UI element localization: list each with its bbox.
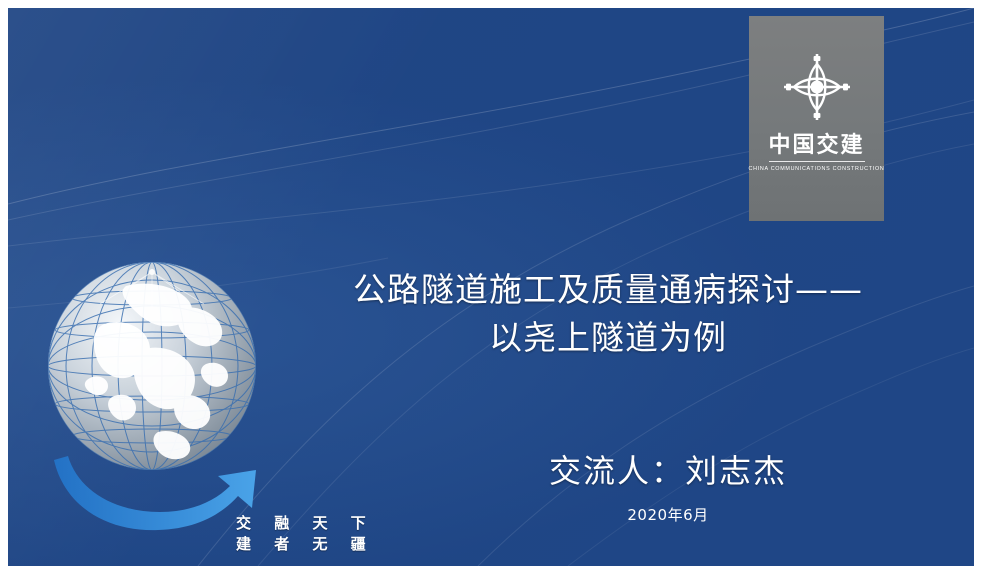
slogan-line-1: 交 融 天 下 <box>236 513 375 534</box>
company-slogan: 交 融 天 下 建 者 无 疆 <box>236 513 375 555</box>
company-logo-panel: 中国交建 CHINA COMMUNICATIONS CONSTRUCTION <box>749 16 884 221</box>
presentation-date: 2020年6月 <box>428 504 908 525</box>
title-line-1: 公路隧道施工及质量通病探讨—— <box>353 270 863 309</box>
globe-graphic <box>30 246 300 546</box>
title-line-2: 以尧上隧道为例 <box>308 314 908 362</box>
slogan-line-2: 建 者 无 疆 <box>236 534 375 555</box>
logo-company-name-cn: 中国交建 <box>768 134 864 158</box>
page-title: 公路隧道施工及质量通病探讨—— 以尧上隧道为例 <box>308 266 908 362</box>
logo-divider <box>769 161 865 162</box>
presentation-slide: 交 融 天 下 建 者 无 疆 <box>0 0 982 574</box>
presenter-name: 交流人：刘志杰 <box>428 446 908 492</box>
cccc-compass-icon <box>780 50 854 124</box>
globe-icon <box>30 246 300 546</box>
slide-canvas: 交 融 天 下 建 者 无 疆 <box>8 8 974 566</box>
logo-company-name-en: CHINA COMMUNICATIONS CONSTRUCTION <box>749 166 885 172</box>
